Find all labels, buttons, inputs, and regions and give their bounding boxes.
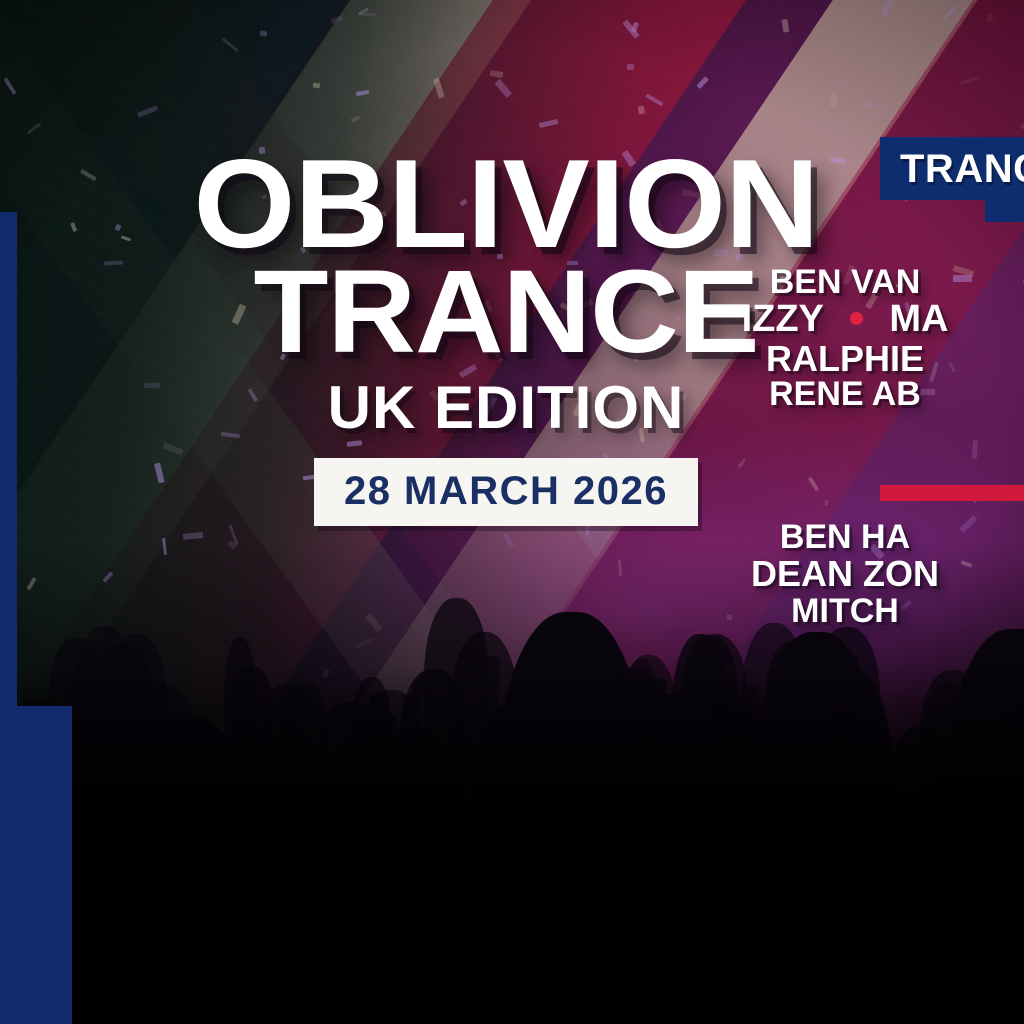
event-poster: OBLIVION TRANCE UK EDITION 28 MARCH 2026…	[0, 0, 1024, 1024]
lineup-row: RALPHIE	[470, 340, 1024, 377]
title-line-oblivion: OBLIVION	[184, 150, 829, 258]
lineup-artist: MA	[889, 298, 948, 340]
lineup-row: DEAN ZON	[470, 555, 1024, 593]
event-date-badge: 28 MARCH 2026	[314, 458, 698, 526]
accent-bar-left-thin	[0, 212, 17, 706]
lineup-row: BEN VAN	[470, 265, 1024, 300]
lineup-artist: IZZY	[742, 298, 824, 340]
lineup-list-main: BEN VAN IZZY MA RALPHIE RENE AB	[470, 265, 1024, 413]
lineup-row: RENE AB	[470, 377, 1024, 412]
stage-banner-notch	[985, 198, 1024, 222]
lineup-list-secondary: BEN HA DEAN ZON MITCH	[470, 519, 1024, 629]
stage-name-banner: TRANCE	[880, 137, 1024, 200]
lineup-row: IZZY MA	[470, 300, 1024, 340]
lineup-row: BEN HA	[470, 519, 1024, 555]
accent-bar-red	[880, 485, 1024, 501]
accent-bar-left-wide	[0, 706, 72, 1024]
separator-dot-icon	[850, 312, 863, 325]
stage-name-label: TRANCE	[900, 149, 1024, 189]
lineup-panel: TRANCE BEN VAN IZZY MA RALPHIE RENE AB B…	[880, 137, 1024, 200]
lineup-row: MITCH	[470, 593, 1024, 629]
